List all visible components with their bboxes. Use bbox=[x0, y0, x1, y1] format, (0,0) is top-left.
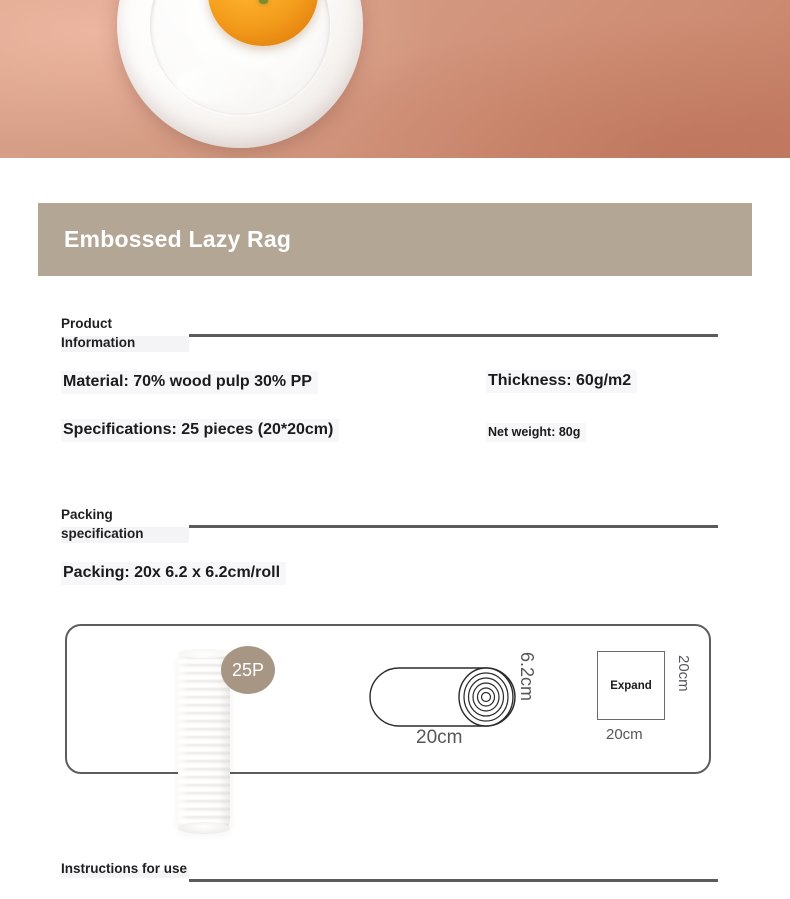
spec-net-weight: Net weight: 80g bbox=[486, 423, 586, 442]
expanded-width-dimension-label: 20cm bbox=[606, 726, 643, 743]
roll-line-drawing bbox=[368, 666, 520, 733]
section-header-product-information: Product Information bbox=[61, 314, 718, 352]
spec-packing: Packing: 20x 6.2 x 6.2cm/roll bbox=[61, 562, 286, 585]
roll-length-dimension-label: 20cm bbox=[416, 727, 462, 749]
orange-stem bbox=[259, 0, 268, 4]
section-rule bbox=[189, 525, 718, 528]
roll-diameter-dimension-label: 6.2cm bbox=[516, 652, 537, 701]
expanded-sheet-box: Expand bbox=[597, 651, 665, 720]
section-header-packing-specification: Packing specification bbox=[61, 505, 718, 543]
section-rule bbox=[189, 879, 718, 882]
page-title: Embossed Lazy Rag bbox=[64, 226, 291, 253]
spec-material: Material: 70% wood pulp 30% PP bbox=[61, 371, 318, 394]
hero-product-photo bbox=[0, 0, 790, 158]
spec-specifications: Specifications: 25 pieces (20*20cm) bbox=[61, 419, 339, 442]
plate-gloss-highlight bbox=[176, 64, 274, 103]
section-rule bbox=[189, 334, 718, 337]
spec-thickness: Thickness: 60g/m2 bbox=[486, 370, 637, 393]
section-label-product-information: Product Information bbox=[61, 314, 189, 352]
section-label-instructions-for-use: Instructions for use bbox=[61, 859, 189, 878]
section-header-instructions-for-use: Instructions for use bbox=[61, 859, 718, 882]
expanded-height-dimension-label: 20cm bbox=[675, 655, 692, 692]
product-title-banner: Embossed Lazy Rag bbox=[38, 203, 752, 276]
section-label-packing-specification: Packing specification bbox=[61, 505, 189, 543]
count-badge-25p: 25P bbox=[221, 646, 275, 694]
